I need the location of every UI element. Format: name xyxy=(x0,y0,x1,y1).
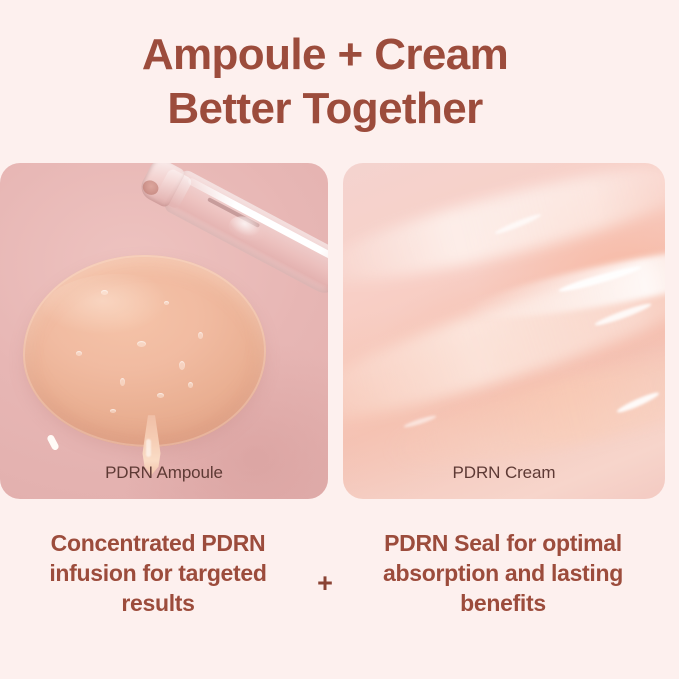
gel-bubble xyxy=(179,361,185,370)
page-title-line-2: Better Together xyxy=(0,82,650,136)
gel-bubble xyxy=(110,409,116,413)
gel-bubble xyxy=(101,290,108,295)
serum-droplet-highlight xyxy=(146,439,151,457)
page-title-line-1: Ampoule + Cream xyxy=(0,28,650,82)
caption-ampoule: PDRN Ampoule xyxy=(0,463,328,483)
panel-ampoule: PDRN Ampoule xyxy=(0,163,328,499)
gel-bubble xyxy=(164,301,169,305)
plus-separator-icon: + xyxy=(300,570,350,597)
page-title: Ampoule + Cream Better Together xyxy=(0,28,650,136)
benefit-statements: Concentrated PDRN infusion for targeted … xyxy=(0,528,679,658)
caption-cream: PDRN Cream xyxy=(343,463,665,483)
gel-blob-sheen xyxy=(42,274,193,351)
gel-bubble xyxy=(198,332,203,339)
dropper-tip-opening xyxy=(140,178,161,198)
benefit-ampoule-text: Concentrated PDRN infusion for targeted … xyxy=(22,528,294,618)
benefit-cream-text: PDRN Seal for optimal absorption and las… xyxy=(358,528,648,618)
gel-bubble xyxy=(188,382,193,388)
product-image-panels: PDRN Ampoule PDRN Cream xyxy=(0,163,679,499)
ampoule-cream-infographic: { "background_color": "#fdf0ee", "headin… xyxy=(0,0,679,679)
panel-cream: PDRN Cream xyxy=(343,163,665,499)
gel-blob xyxy=(23,255,266,447)
gel-bubble xyxy=(157,393,164,398)
